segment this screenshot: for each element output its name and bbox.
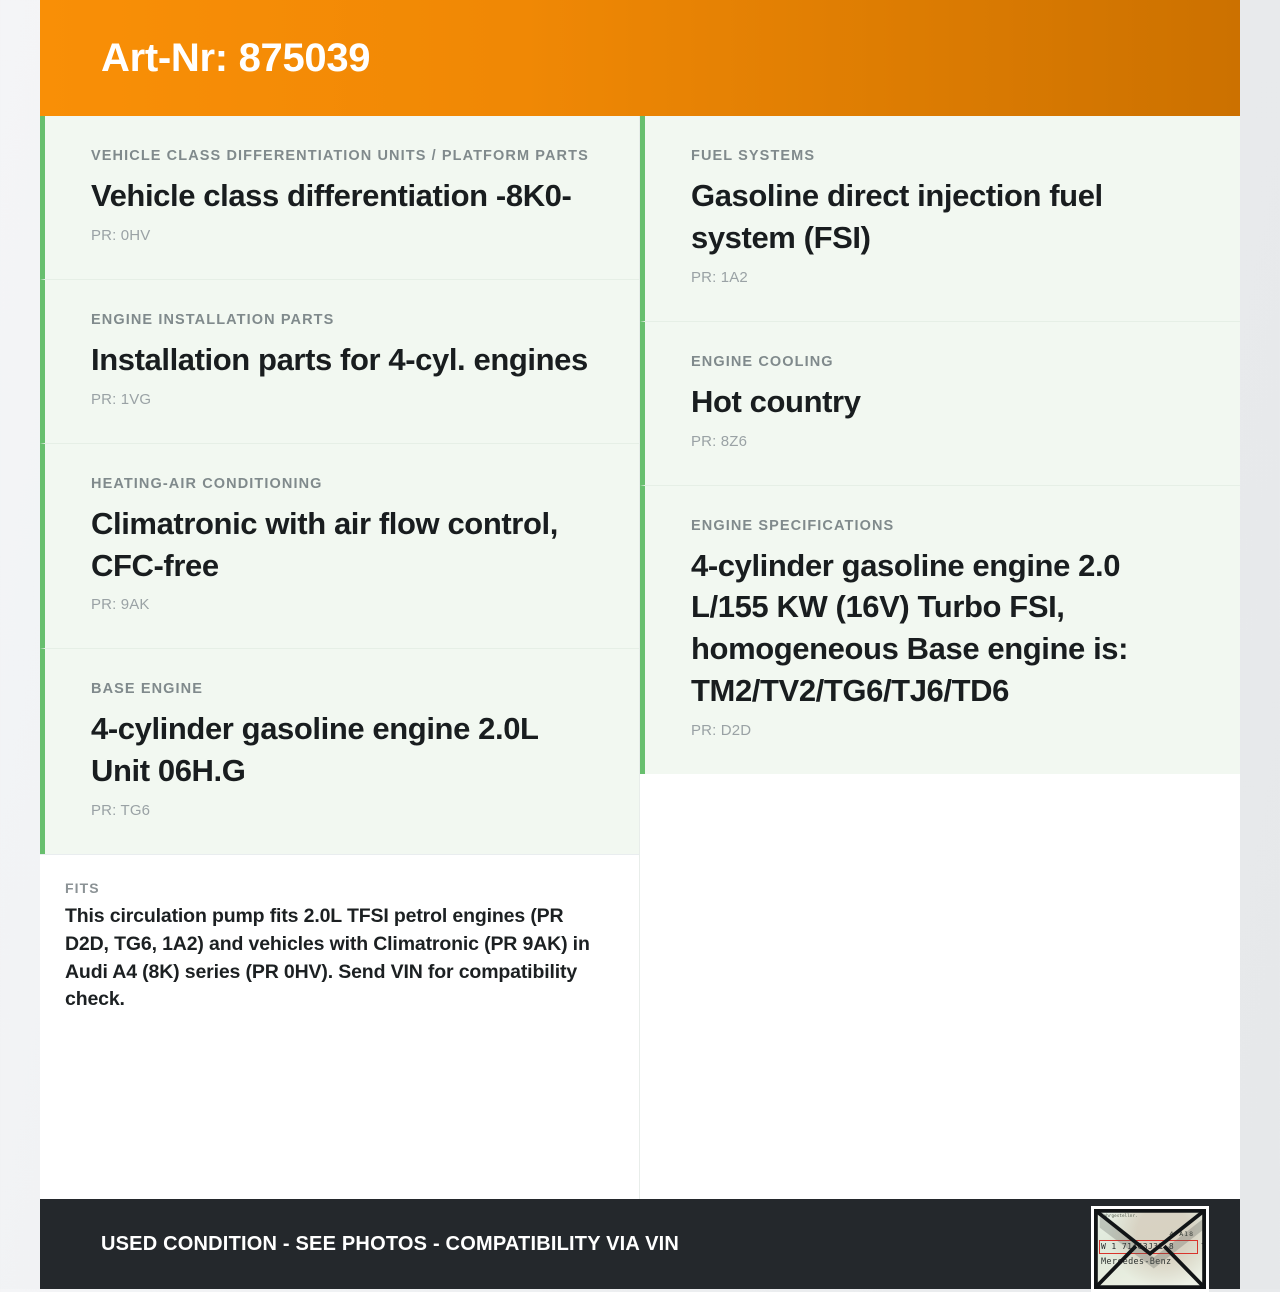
spec-title: Installation parts for 4-cyl. engines <box>91 339 599 381</box>
left-column-filler <box>40 1044 639 1199</box>
spec-pr-code: PR: 1A2 <box>691 269 1200 287</box>
spec-card-vehicle-class[interactable]: VEHICLE CLASS DIFFERENTIATION UNITS / PL… <box>40 116 639 279</box>
spec-category: HEATING-AIR CONDITIONING <box>91 474 599 495</box>
left-column: VEHICLE CLASS DIFFERENTIATION UNITS / PL… <box>40 116 640 1199</box>
spec-title: Hot country <box>691 381 1200 423</box>
product-info-card: Art-Nr: 875039 VEHICLE CLASS DIFFERENTIA… <box>40 0 1240 1289</box>
header-bar: Art-Nr: 875039 <box>40 0 1240 116</box>
spec-category: BASE ENGINE <box>91 679 599 700</box>
spec-category: ENGINE INSTALLATION PARTS <box>91 310 599 331</box>
footer-notice: USED CONDITION - SEE PHOTOS - COMPATIBIL… <box>101 1233 679 1256</box>
spec-pr-code: PR: 8Z6 <box>691 433 1200 451</box>
right-column-filler <box>640 774 1240 1199</box>
spec-title: Gasoline direct injection fuel system (F… <box>691 175 1200 259</box>
spec-category: VEHICLE CLASS DIFFERENTIATION UNITS / PL… <box>91 146 599 167</box>
spec-category: FUEL SYSTEMS <box>691 146 1200 167</box>
spec-pr-code: PR: 0HV <box>91 227 599 245</box>
spec-category: ENGINE COOLING <box>691 352 1200 373</box>
spec-pr-code: PR: D2D <box>691 722 1200 740</box>
spec-card-fuel-systems[interactable]: FUEL SYSTEMS Gasoline direct injection f… <box>640 116 1240 321</box>
spec-title: 4-cylinder gasoline engine 2.0L Unit 06H… <box>91 708 599 792</box>
fits-label: FITS <box>65 880 599 896</box>
page-title: Art-Nr: 875039 <box>101 38 370 78</box>
envelope-icon <box>1094 1209 1206 1289</box>
spec-title: 4-cylinder gasoline engine 2.0 L/155 KW … <box>691 545 1200 712</box>
spec-card-engine-specifications[interactable]: ENGINE SPECIFICATIONS 4-cylinder gasolin… <box>640 485 1240 774</box>
spec-pr-code: PR: 1VG <box>91 391 599 409</box>
spec-title: Climatronic with air flow control, CFC-f… <box>91 503 599 587</box>
vin-document-thumbnail[interactable]: Fahrgestellnr. 4 A18 W 1 71463J31 8 7 Me… <box>1091 1206 1209 1292</box>
spec-columns: VEHICLE CLASS DIFFERENTIATION UNITS / PL… <box>40 116 1240 1199</box>
footer-bar: USED CONDITION - SEE PHOTOS - COMPATIBIL… <box>40 1199 1240 1289</box>
spec-card-heating-air-conditioning[interactable]: HEATING-AIR CONDITIONING Climatronic wit… <box>40 443 639 649</box>
spec-category: ENGINE SPECIFICATIONS <box>691 516 1200 537</box>
spec-card-engine-installation[interactable]: ENGINE INSTALLATION PARTS Installation p… <box>40 279 639 443</box>
fits-block: FITS This circulation pump fits 2.0L TFS… <box>40 854 639 1044</box>
right-column: FUEL SYSTEMS Gasoline direct injection f… <box>640 116 1240 1199</box>
fits-text: This circulation pump fits 2.0L TFSI pet… <box>65 903 599 1014</box>
spec-pr-code: PR: 9AK <box>91 596 599 614</box>
spec-card-engine-cooling[interactable]: ENGINE COOLING Hot country PR: 8Z6 <box>640 321 1240 485</box>
spec-pr-code: PR: TG6 <box>91 802 599 820</box>
spec-card-base-engine[interactable]: BASE ENGINE 4-cylinder gasoline engine 2… <box>40 648 639 854</box>
spec-title: Vehicle class differentiation -8K0- <box>91 175 599 217</box>
